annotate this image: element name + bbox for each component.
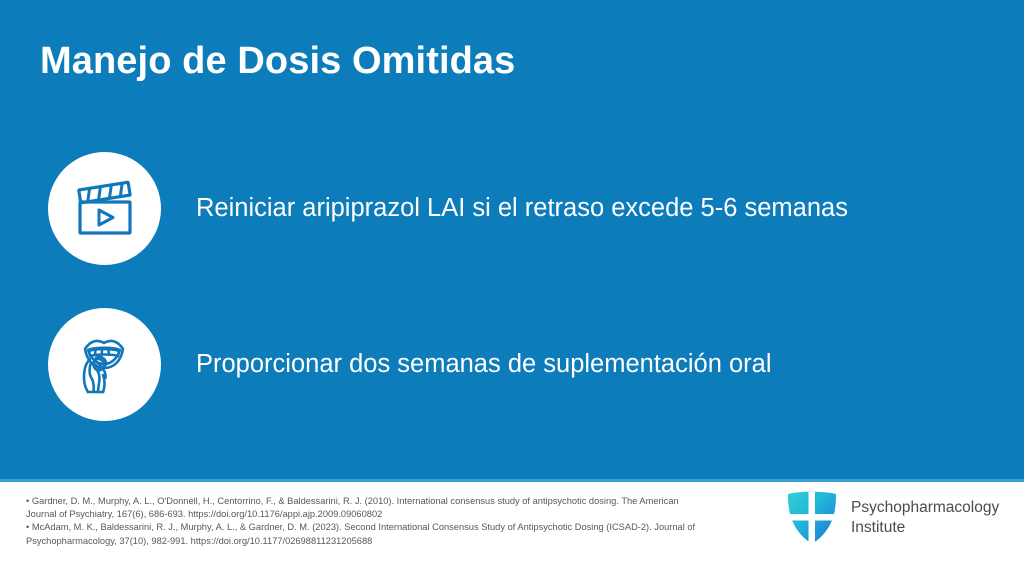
bullet-text: Proporcionar dos semanas de suplementaci… — [196, 348, 772, 381]
reference-line: • Gardner, D. M., Murphy, A. L., O'Donne… — [26, 495, 756, 508]
icon-badge — [48, 308, 161, 421]
slide: Manejo de Dosis Omitidas — [0, 0, 1024, 576]
brand-logo: Psychopharmacology Institute — [786, 490, 999, 546]
shield-icon — [786, 490, 838, 546]
page-title: Manejo de Dosis Omitidas — [40, 39, 515, 85]
reference-line: Journal of Psychiatry, 167(6), 686-693. … — [26, 508, 756, 521]
reference-list: • Gardner, D. M., Murphy, A. L., O'Donne… — [26, 495, 756, 548]
clapperboard-play-icon — [74, 180, 136, 238]
mouth-hand-pill-icon — [73, 332, 137, 398]
bullet-text: Reiniciar aripiprazol LAI si el retraso … — [196, 192, 848, 225]
reference-line: Psychopharmacology, 37(10), 982-991. htt… — [26, 535, 756, 548]
logo-text: Psychopharmacology Institute — [851, 498, 999, 538]
bullet-row: Proporcionar dos semanas de suplementaci… — [48, 308, 988, 421]
icon-badge — [48, 152, 161, 265]
reference-line: • McAdam, M. K., Baldessarini, R. J., Mu… — [26, 521, 756, 534]
bullet-row: Reiniciar aripiprazol LAI si el retraso … — [48, 152, 988, 265]
